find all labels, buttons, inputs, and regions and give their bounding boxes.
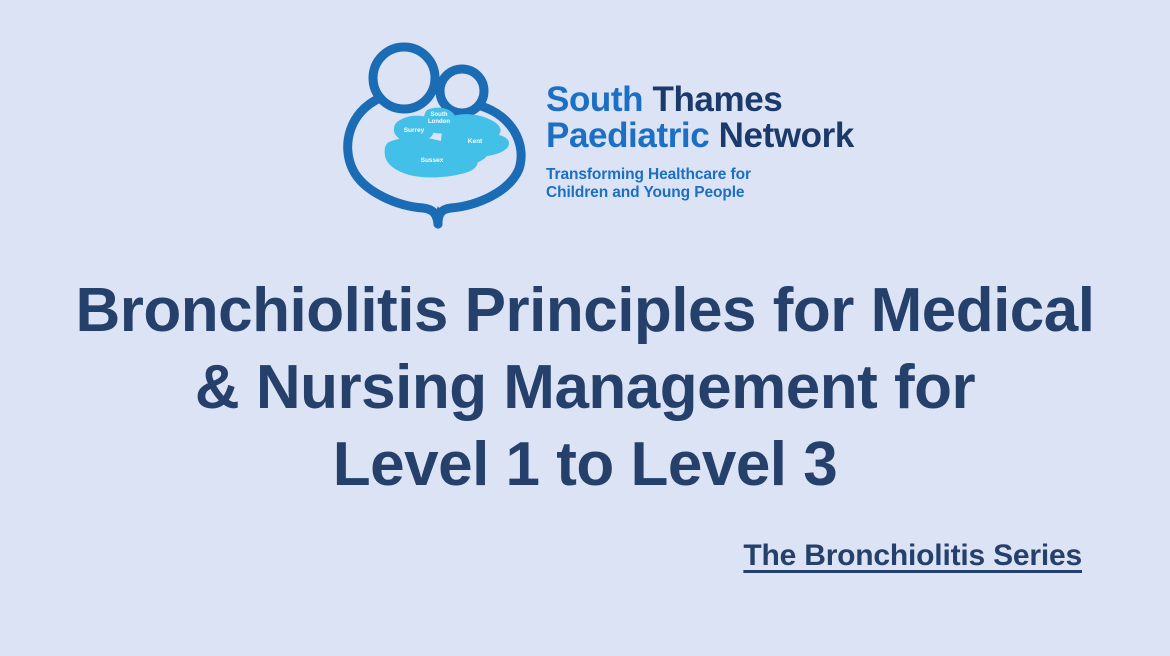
map-label-kent: Kent	[468, 138, 483, 145]
wordmark-line-2: Paediatric Network	[546, 118, 854, 154]
svg-text:London: London	[428, 119, 450, 125]
page-title: Bronchiolitis Principles for Medical & N…	[0, 272, 1170, 503]
tagline-line-1: Transforming Healthcare for	[546, 166, 854, 184]
series-label: The Bronchiolitis Series	[743, 538, 1082, 574]
two-figures-heart-outline-icon: South London Surrey Kent Sussex	[335, 36, 540, 236]
wordmark-thames: Thames	[652, 80, 782, 119]
title-line-1: Bronchiolitis Principles for Medical	[0, 272, 1170, 349]
map-label-surrey: Surrey	[404, 127, 425, 134]
south-east-england-map: South London Surrey Kent Sussex	[385, 108, 509, 178]
logo-wordmark: South Thames Paediatric Network Transfor…	[546, 36, 854, 203]
wordmark-paediatric: Paediatric	[546, 116, 719, 155]
wordmark-line-1: South Thames	[546, 82, 854, 118]
title-line-3: Level 1 to Level 3	[0, 426, 1170, 503]
tagline-line-2: Children and Young People	[546, 184, 854, 202]
title-line-2: & Nursing Management for	[0, 349, 1170, 426]
organisation-logo: South London Surrey Kent Sussex South Th…	[335, 36, 855, 236]
footer: The Bronchiolitis Series	[0, 538, 1170, 574]
wordmark-south: South	[546, 80, 652, 119]
map-label-sussex: Sussex	[421, 157, 444, 164]
wordmark-network: Network	[719, 116, 854, 155]
logo-tagline: Transforming Healthcare for Children and…	[546, 166, 854, 203]
title-slide: South London Surrey Kent Sussex South Th…	[0, 0, 1170, 656]
map-label-south-london: South	[431, 112, 448, 118]
